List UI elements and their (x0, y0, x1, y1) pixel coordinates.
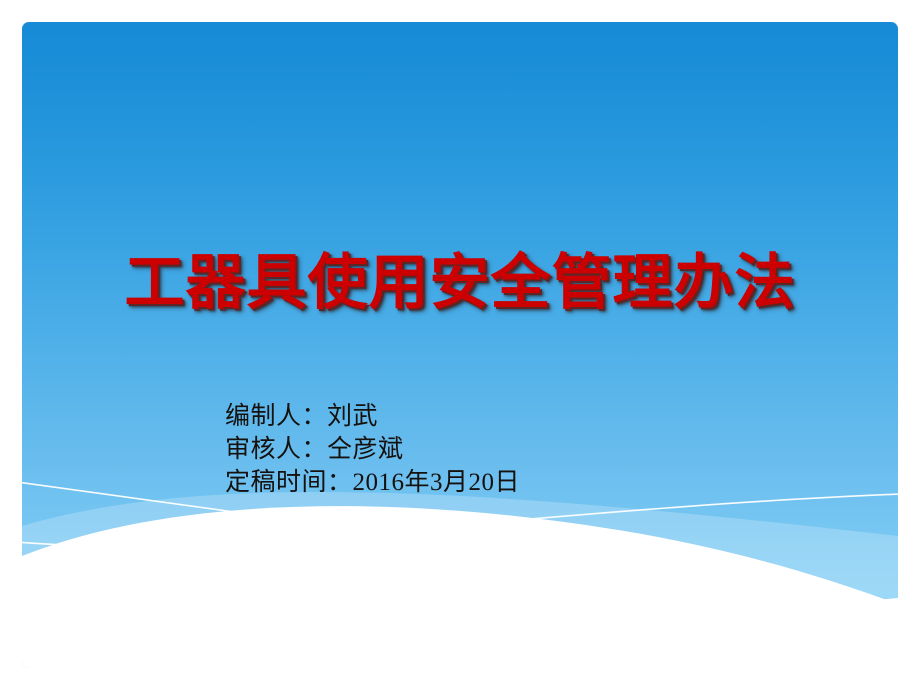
wave-tint-band (22, 492, 898, 640)
slide-subtitle: 编制人：刘武 审核人：仝彦斌 定稿时间：2016年3月20日 (225, 400, 745, 499)
subtitle-line-author: 编制人：刘武 (225, 400, 745, 433)
slide-background: 工器具使用安全管理办法 编制人：刘武 审核人：仝彦斌 定稿时间：2016年3月2… (22, 22, 898, 668)
wave-white-main (22, 506, 898, 668)
wave-white-secondary (382, 598, 898, 668)
slide-title: 工器具使用安全管理办法 (22, 252, 898, 315)
subtitle-line-date: 定稿时间：2016年3月20日 (225, 466, 745, 499)
presentation-slide: 工器具使用安全管理办法 编制人：刘武 审核人：仝彦斌 定稿时间：2016年3月2… (0, 0, 920, 690)
subtitle-line-reviewer: 审核人：仝彦斌 (225, 433, 745, 466)
slide-title-text: 工器具使用安全管理办法 (125, 252, 796, 315)
wave-line-descending (22, 482, 898, 604)
wave-line-rising (22, 494, 898, 546)
